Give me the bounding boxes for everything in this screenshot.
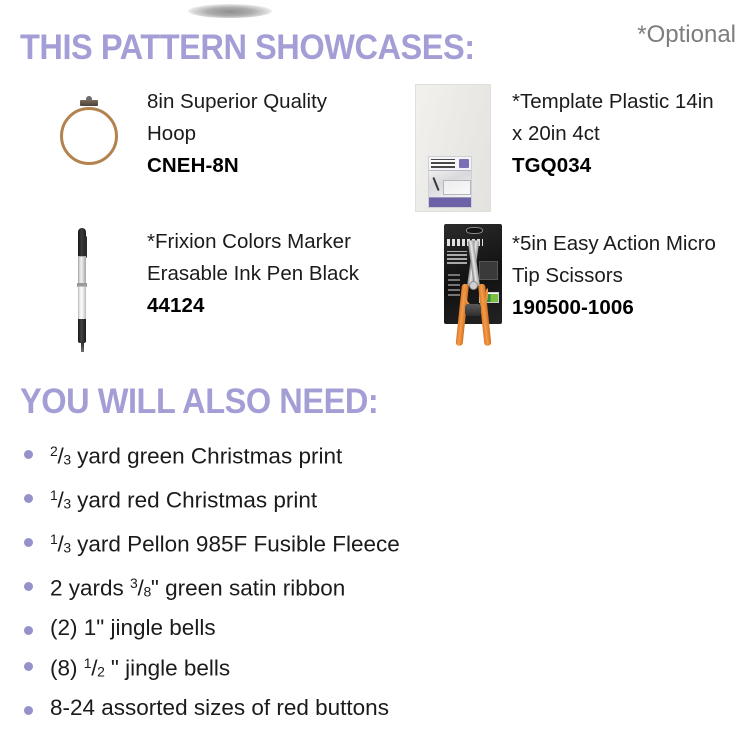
- fraction-denominator: 3: [63, 496, 70, 512]
- supplies-list-item: (2) 1" jingle bells: [18, 610, 732, 646]
- supplies-list-item: 2/3 yard green Christmas print: [18, 434, 732, 478]
- hoop-ring-shape: [60, 107, 118, 165]
- product-name-line2: Hoop: [147, 118, 397, 150]
- scissors-grip-pad: [465, 304, 481, 316]
- fraction-denominator: 8: [143, 584, 150, 600]
- product-text-frixion-pen: *Frixion Colors Marker Erasable Ink Pen …: [147, 226, 397, 322]
- supply-suffix-text: " jingle bells: [105, 656, 231, 681]
- product-text-template-plastic: *Template Plastic 14in x 20in 4ct TGQ034: [512, 86, 750, 182]
- product-name-line2: Tip Scissors: [512, 260, 750, 292]
- scissors-illustration: [450, 240, 496, 348]
- supply-prefix-text: 8-24 assorted sizes of red buttons: [50, 695, 389, 720]
- plastic-sheet-shape: [415, 84, 491, 212]
- product-name-line2: Erasable Ink Pen Black: [147, 258, 397, 290]
- product-sku: 44124: [147, 290, 397, 322]
- page-title-showcases: THIS PATTERN SHOWCASES:: [20, 28, 475, 68]
- hang-hole-icon: [466, 227, 483, 234]
- product-sku: 190500-1006: [512, 292, 750, 324]
- product-name-line2: x 20in 4ct: [512, 118, 750, 150]
- pen-clip-icon: [84, 236, 87, 258]
- fiskars-scissors-package-image: [444, 224, 506, 348]
- supply-suffix-text: yard red Christmas print: [71, 488, 317, 513]
- supply-suffix-text: yard Pellon 985F Fusible Fleece: [71, 532, 400, 557]
- page-title-also-need: YOU WILL ALSO NEED:: [20, 382, 378, 422]
- supplies-list-item: (8) 1/2 " jingle bells: [18, 646, 732, 690]
- pen-grip-shape: [78, 319, 86, 343]
- frixion-pen-image: [70, 228, 94, 352]
- supply-suffix-text: yard green Christmas print: [71, 444, 342, 469]
- pen-tip-shape: [81, 342, 84, 352]
- supplies-list-item: 8-24 assorted sizes of red buttons: [18, 690, 732, 726]
- supply-fraction: 1/3: [50, 478, 71, 522]
- product-name-line1: *Template Plastic 14in: [512, 86, 750, 118]
- label-header-band: [429, 157, 471, 171]
- package-label: [428, 156, 472, 208]
- supply-prefix-text: 2 yards: [50, 576, 130, 601]
- supply-fraction: 1/3: [50, 522, 71, 566]
- product-name-line1: *Frixion Colors Marker: [147, 226, 397, 258]
- template-plastic-package-image: [412, 84, 494, 212]
- supplies-list-item: 1/3 yard red Christmas print: [18, 478, 732, 522]
- fraction-numerator: 3: [130, 575, 137, 591]
- product-sku: CNEH-8N: [147, 150, 397, 182]
- label-product-photo: [429, 171, 471, 198]
- supply-suffix-text: " green satin ribbon: [151, 576, 345, 601]
- fraction-denominator: 2: [97, 663, 104, 679]
- supplies-list-item: 1/3 yard Pellon 985F Fusible Fleece: [18, 522, 732, 566]
- supply-prefix-text: (8): [50, 656, 84, 681]
- fraction-denominator: 3: [63, 452, 70, 468]
- supply-fraction: 3/8: [130, 566, 151, 610]
- fraction-denominator: 3: [63, 540, 70, 556]
- label-footer-band: [429, 198, 471, 208]
- supplies-list: 2/3 yard green Christmas print1/3 yard r…: [18, 434, 732, 726]
- supplies-list-item: 2 yards 3/8" green satin ribbon: [18, 566, 732, 610]
- supply-fraction: 2/3: [50, 434, 71, 478]
- pen-barrel-shape: [78, 286, 86, 320]
- product-text-hoop: 8in Superior Quality Hoop CNEH-8N: [147, 86, 397, 182]
- product-name-line1: *5in Easy Action Micro: [512, 228, 750, 260]
- embroidery-hoop-image: [56, 92, 122, 172]
- supply-fraction: 1/2: [84, 646, 105, 690]
- hoop-clamp-icon: [80, 100, 98, 106]
- supply-prefix-text: (2) 1" jingle bells: [50, 615, 216, 640]
- pen-upper-barrel-shape: [78, 256, 86, 284]
- product-name-line1: 8in Superior Quality: [147, 86, 397, 118]
- product-sku: TGQ034: [512, 150, 750, 182]
- product-text-scissors: *5in Easy Action Micro Tip Scissors 1905…: [512, 228, 750, 324]
- top-decorative-arc: [188, 4, 272, 18]
- optional-note-label: *Optional: [637, 21, 736, 49]
